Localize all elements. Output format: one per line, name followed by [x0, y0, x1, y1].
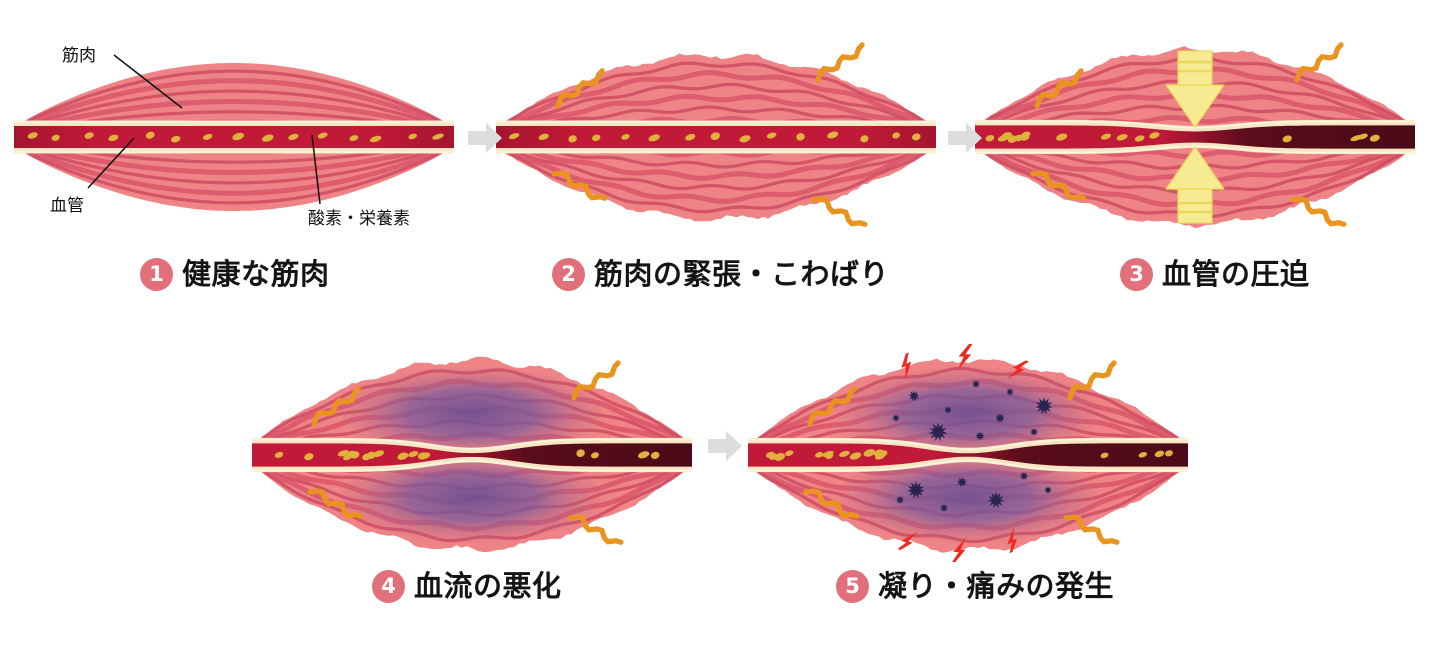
- muscle-knot-particle: [896, 496, 904, 504]
- stage-caption-2: 2筋肉の緊張・こわばり: [552, 258, 889, 291]
- tension-zigzag-icon: [814, 195, 865, 230]
- muscle-figure-stage-2: [496, 22, 936, 252]
- stage-caption-1: 1健康な筋肉: [140, 258, 330, 291]
- muscle-stiffness-diagram: 1健康な筋肉2筋肉の緊張・こわばり3血管の圧迫4血流の悪化5凝り・痛みの発生筋肉…: [0, 0, 1450, 660]
- stage-panel-3: [975, 22, 1415, 252]
- stage-number-badge: 1: [140, 258, 173, 291]
- tension-zigzag-icon: [815, 45, 866, 80]
- stage-panel-4: [252, 340, 692, 570]
- muscle-knot-particle: [1020, 472, 1029, 481]
- muscle-knot-particle: [1030, 428, 1038, 436]
- stage-caption-label: 血管の圧迫: [1162, 260, 1310, 289]
- stage-caption-3: 3血管の圧迫: [1120, 258, 1310, 291]
- flow-arrow-sep-4-5: [708, 430, 742, 462]
- muscle-knot-particle: [892, 414, 900, 422]
- flow-arrow-sep-1-2: [468, 122, 502, 154]
- stage-number-badge: 2: [552, 258, 585, 291]
- stage-caption-label: 健康な筋肉: [182, 260, 330, 289]
- stage-caption-label: 筋肉の緊張・こわばり: [594, 260, 889, 289]
- stage-panel-5: [748, 340, 1188, 570]
- muscle-knot-particle: [972, 380, 980, 388]
- stage-number-badge: 4: [372, 570, 405, 603]
- stage-caption-label: 血流の悪化: [414, 572, 562, 601]
- annotation-muscle: 筋肉: [62, 48, 96, 65]
- stage-panel-2: [496, 22, 936, 252]
- stage-number-badge: 5: [836, 570, 869, 603]
- muscle-figure-stage-5: [748, 340, 1188, 570]
- muscle-figure-stage-3: [975, 22, 1415, 252]
- annotation-vessel: 血管: [50, 198, 84, 215]
- stage-caption-label: 凝り・痛みの発生: [878, 572, 1114, 601]
- annotation-oxygen-nutrients: 酸素・栄養素: [308, 211, 410, 228]
- muscle-knot-particle: [944, 406, 952, 414]
- stage-caption-4: 4血流の悪化: [372, 570, 562, 603]
- muscle-figure-stage-4: [252, 340, 692, 570]
- flow-arrow-sep-2-3: [948, 122, 982, 154]
- muscle-knot-particle: [940, 504, 948, 512]
- stage-caption-5: 5凝り・痛みの発生: [836, 570, 1114, 603]
- stage-number-badge: 3: [1120, 258, 1153, 291]
